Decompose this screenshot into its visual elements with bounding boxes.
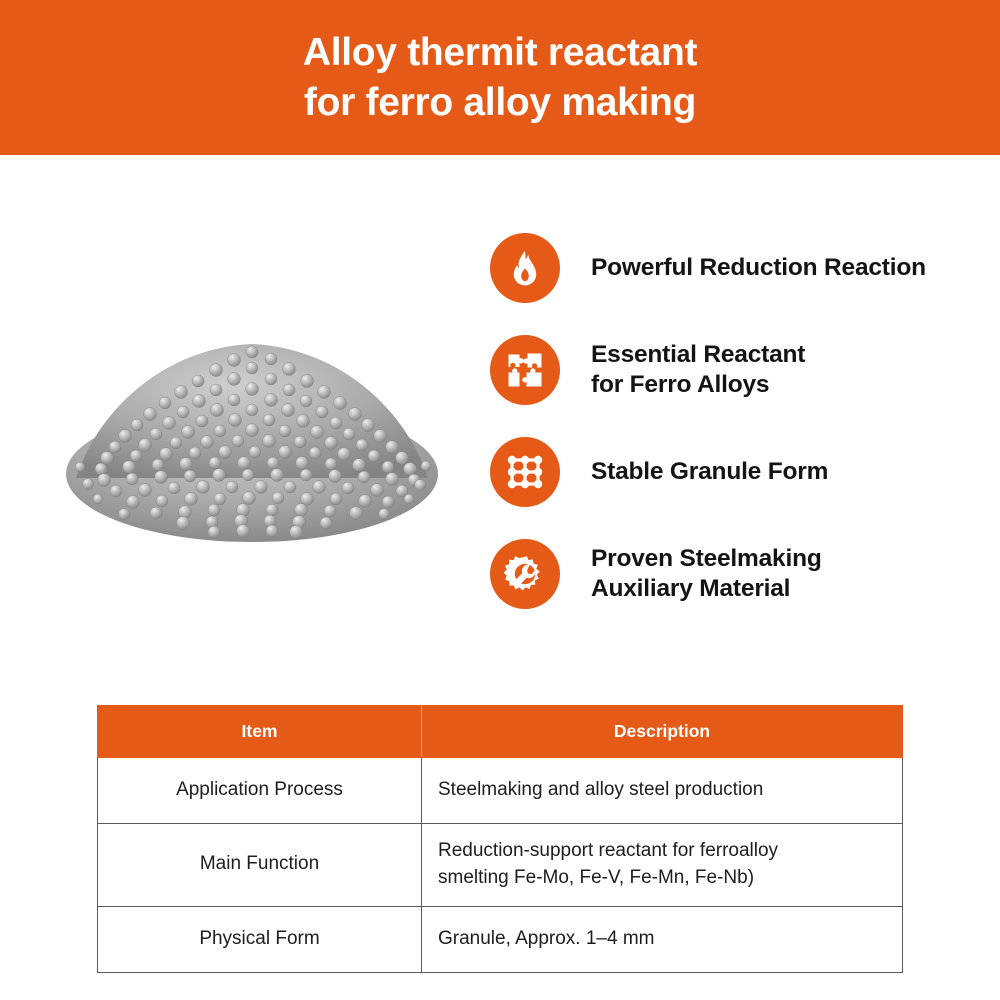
cell-description: Steelmaking and alloy steel production (422, 758, 903, 824)
cell-item: Application Process (98, 758, 422, 824)
flame-icon (490, 233, 560, 303)
cell-description: Granule, Approx. 1–4 mm (422, 906, 903, 972)
table-row: Application Process Steelmaking and allo… (98, 758, 903, 824)
table-row: Main Function Reduction-support reactant… (98, 824, 903, 907)
banner-title-line-2: for ferro alloy making (304, 78, 696, 128)
gear-wrench-icon (490, 539, 560, 609)
feature-item-essential-reactant: Essential Reactant for Ferro Alloys (490, 334, 990, 406)
column-header-description: Description (422, 706, 903, 758)
header-banner: Alloy thermit reactant for ferro alloy m… (0, 0, 1000, 155)
product-infographic: Alloy thermit reactant for ferro alloy m… (0, 0, 1000, 1000)
banner-title-line-1: Alloy thermit reactant (303, 28, 697, 78)
granule-pile-illustration (28, 252, 476, 608)
dot-grid-icon (490, 437, 560, 507)
puzzle-icon (490, 335, 560, 405)
table-header-row: Item Description (98, 706, 903, 758)
feature-label: Stable Granule Form (591, 457, 828, 487)
cell-item: Physical Form (98, 906, 422, 972)
table-row: Physical Form Granule, Approx. 1–4 mm (98, 906, 903, 972)
feature-label: Powerful Reduction Reaction (591, 253, 926, 283)
column-header-item: Item (98, 706, 422, 758)
feature-item-stable-granule-form: Stable Granule Form (490, 436, 990, 508)
specification-table: Item Description Application Process Ste… (97, 705, 903, 973)
feature-item-powerful-reduction-reaction: Powerful Reduction Reaction (490, 232, 990, 304)
feature-list: Powerful Reduction Reaction Essential Re… (490, 232, 990, 610)
feature-label: Proven Steelmaking Auxiliary Material (591, 544, 822, 605)
feature-item-proven-steelmaking: Proven Steelmaking Auxiliary Material (490, 538, 990, 610)
cell-description: Reduction-support reactant for ferroallo… (422, 824, 903, 907)
cell-item: Main Function (98, 824, 422, 907)
product-image (28, 252, 476, 608)
feature-label: Essential Reactant for Ferro Alloys (591, 340, 805, 401)
